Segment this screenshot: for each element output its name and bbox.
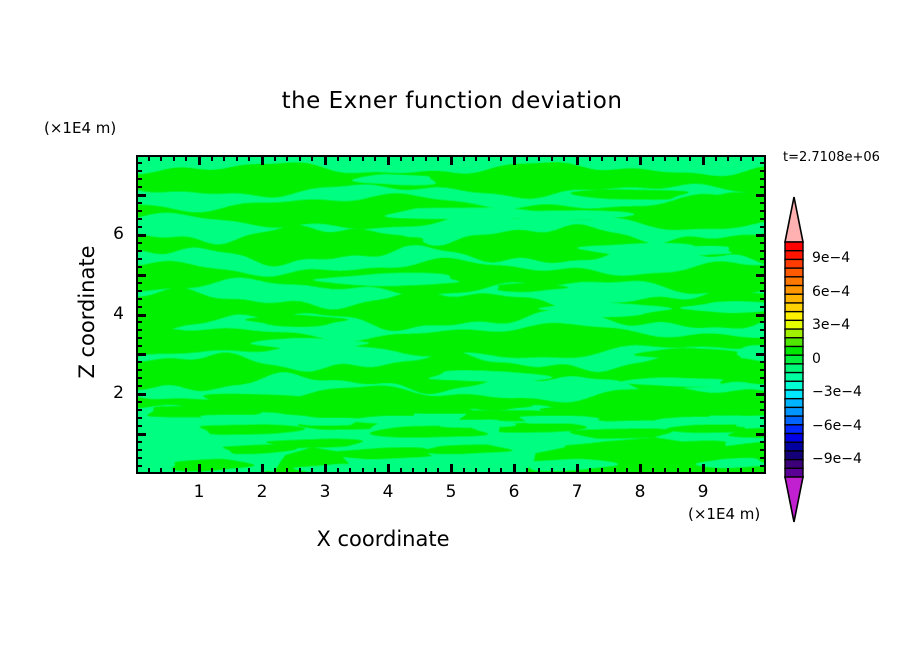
colorbar-band xyxy=(785,364,803,373)
colorbar xyxy=(782,196,806,523)
colorbar-band xyxy=(785,312,803,321)
page-title: the Exner function deviation xyxy=(0,88,904,114)
colorbar-tick-label: 9e−4 xyxy=(812,250,850,266)
colorbar-band xyxy=(785,303,803,312)
y-axis-title: Z coordinate xyxy=(75,212,99,412)
colorbar-band xyxy=(785,399,803,408)
x-tick-label: 7 xyxy=(557,482,597,502)
colorbar-tick-label: −6e−4 xyxy=(812,418,862,434)
x-tick-label: 3 xyxy=(305,482,345,502)
colorbar-band xyxy=(785,381,803,390)
x-axis-unit-label: (×1E4 m) xyxy=(688,505,760,523)
contour-plot-figure: the Exner function deviation (×1E4 m) t=… xyxy=(0,0,904,654)
colorbar-under-arrow xyxy=(785,477,803,522)
colorbar-band xyxy=(785,468,803,477)
colorbar-over-arrow xyxy=(785,197,803,242)
colorbar-band xyxy=(785,407,803,416)
colorbar-tick-label: −9e−4 xyxy=(812,451,862,467)
colorbar-band xyxy=(785,277,803,286)
colorbar-band xyxy=(785,286,803,295)
x-tick-label: 2 xyxy=(242,482,282,502)
colorbar-tick-label: 0 xyxy=(812,351,821,367)
plot-area xyxy=(136,155,766,474)
x-tick-label: 5 xyxy=(431,482,471,502)
colorbar-tick-label: 6e−4 xyxy=(812,284,850,300)
colorbar-band xyxy=(785,251,803,260)
colorbar-band xyxy=(785,373,803,382)
colorbar-band xyxy=(785,242,803,251)
timestamp-label: t=2.7108e+06 xyxy=(783,150,880,165)
colorbar-band xyxy=(785,433,803,442)
colorbar-tick-label: 3e−4 xyxy=(812,317,850,333)
x-tick-label: 6 xyxy=(494,482,534,502)
contour-field-canvas xyxy=(138,157,764,472)
colorbar-band xyxy=(785,346,803,355)
y-axis-unit-label: (×1E4 m) xyxy=(44,119,116,137)
x-tick-label: 4 xyxy=(368,482,408,502)
colorbar-band xyxy=(785,390,803,399)
x-tick-label: 1 xyxy=(179,482,219,502)
colorbar-band xyxy=(785,320,803,329)
x-tick-label: 9 xyxy=(683,482,723,502)
colorbar-band xyxy=(785,425,803,434)
x-tick-label: 8 xyxy=(620,482,660,502)
colorbar-band xyxy=(785,259,803,268)
colorbar-band xyxy=(785,355,803,364)
colorbar-band xyxy=(785,416,803,425)
colorbar-band xyxy=(785,460,803,469)
colorbar-band xyxy=(785,329,803,338)
colorbar-band xyxy=(785,338,803,347)
colorbar-band xyxy=(785,442,803,451)
x-axis-title: X coordinate xyxy=(0,527,766,551)
colorbar-band xyxy=(785,294,803,303)
colorbar-band xyxy=(785,268,803,277)
colorbar-tick-label: −3e−4 xyxy=(812,384,862,400)
colorbar-band xyxy=(785,451,803,460)
